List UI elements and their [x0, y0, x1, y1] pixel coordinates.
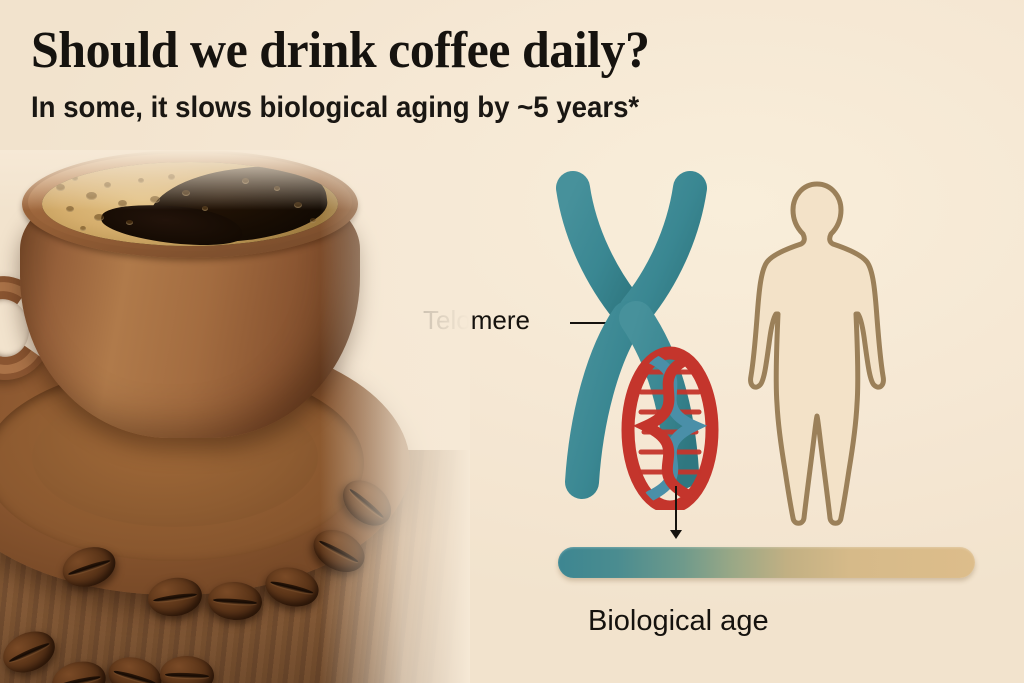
biological-age-bar [558, 547, 975, 578]
chromosome-icon [540, 160, 740, 510]
dna-helix-icon [628, 353, 712, 507]
headline-block: Should we drink coffee daily? In some, i… [31, 22, 831, 126]
biological-age-label: Biological age [588, 605, 769, 638]
infographic-canvas: Should we drink coffee daily? In some, i… [0, 0, 1024, 683]
dna-to-bar-leader-line [675, 486, 677, 534]
page-title: Should we drink coffee daily? [31, 22, 799, 80]
foam-bubble [80, 226, 86, 231]
photo-top-fade [0, 150, 470, 210]
foam-bubble [94, 214, 104, 221]
foam-bubble [310, 218, 316, 223]
dna-to-bar-arrowhead [670, 530, 682, 539]
photo-edge-fade [320, 150, 470, 683]
human-body-silhouette-icon [745, 178, 890, 530]
coffee-cup-photo [0, 150, 470, 683]
page-subtitle: In some, it slows biological aging by ~5… [31, 90, 767, 126]
foam-bubble [126, 220, 133, 225]
